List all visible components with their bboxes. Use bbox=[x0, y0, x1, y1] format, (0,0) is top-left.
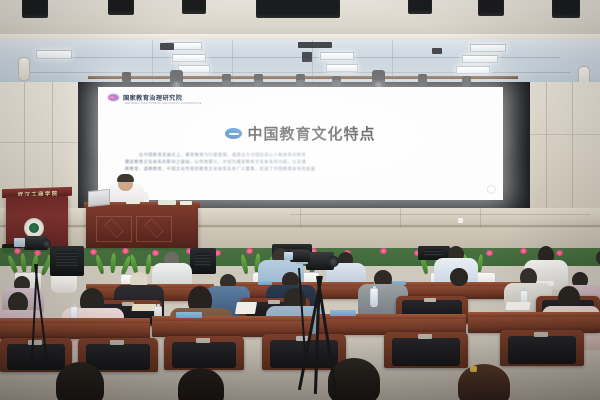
ceiling-speaker bbox=[108, 0, 134, 15]
floor-speaker bbox=[50, 246, 84, 276]
slide-title: 中国教育文化特点 bbox=[247, 123, 375, 144]
stage-spotlight bbox=[372, 70, 385, 88]
ceiling-speaker bbox=[552, 0, 580, 18]
desk-document bbox=[126, 200, 140, 204]
desk-document bbox=[180, 201, 192, 205]
flower bbox=[380, 248, 387, 254]
desk-paper bbox=[235, 302, 257, 314]
flower bbox=[246, 248, 253, 254]
ceiling-light bbox=[470, 44, 506, 52]
desk-nameplate bbox=[158, 200, 176, 205]
desk-item bbox=[131, 304, 156, 311]
stage-spotlight bbox=[170, 70, 183, 88]
lecture-hall-photo: 国家教育治理研究院 NATIONAL INSTITUTE OF EDUCATIO… bbox=[0, 0, 600, 400]
stage-spotlight bbox=[418, 74, 427, 86]
stage-spotlight bbox=[222, 74, 231, 86]
slide-header: 国家教育治理研究院 bbox=[108, 93, 182, 102]
floor-outlet bbox=[458, 218, 463, 223]
base-seam bbox=[400, 208, 401, 228]
flower bbox=[486, 250, 493, 256]
camera-screen bbox=[284, 252, 293, 260]
ceiling-light bbox=[36, 50, 72, 59]
slide-org-subname: NATIONAL INSTITUTE OF EDUCATION GOVERNAN… bbox=[125, 102, 202, 105]
camera-lens-icon bbox=[42, 239, 51, 248]
audience-desk bbox=[0, 323, 150, 339]
slide-body-line: 教教育、道教教育、中国文化传统的教育文化体系及其广义要素，形成了中国教育体系的发… bbox=[125, 165, 477, 172]
institute-logo-icon bbox=[108, 94, 119, 101]
ceiling-vent bbox=[302, 52, 312, 62]
school-crest-icon bbox=[24, 218, 44, 238]
ceiling-light bbox=[326, 64, 358, 72]
flower bbox=[14, 248, 21, 254]
flower bbox=[122, 248, 129, 254]
floor-speaker bbox=[190, 248, 216, 274]
slide-body: 在中国教育发展史上，儒家教育与行政管理、道德法令对国民身心人格修养的教育 儒家教… bbox=[125, 151, 477, 173]
speaker-hair bbox=[117, 174, 134, 182]
camera-lens-icon bbox=[328, 256, 339, 267]
desk-tablet bbox=[176, 312, 202, 318]
plant-leaf bbox=[110, 253, 116, 273]
slide-title-row: 中国教育文化特点 bbox=[98, 123, 503, 144]
chair-tag bbox=[28, 340, 42, 345]
desk-paper bbox=[505, 302, 530, 310]
chair-tag bbox=[418, 334, 432, 339]
ceiling-light bbox=[320, 52, 354, 60]
ceiling-light bbox=[172, 54, 206, 62]
ceiling-speaker bbox=[182, 0, 206, 14]
ceiling-light bbox=[456, 66, 490, 74]
flower bbox=[520, 248, 527, 254]
chair-tag bbox=[424, 298, 436, 302]
base-seam bbox=[290, 214, 590, 215]
projection-screen: 国家教育治理研究院 NATIONAL INSTITUTE OF EDUCATIO… bbox=[98, 87, 503, 200]
slide-body-line: 儒家教育文化体系的影响之基础，以传统要义，才成为儒家教育文化体系的内容，以及通 bbox=[125, 158, 477, 165]
base-seam bbox=[480, 208, 481, 228]
water-bottle bbox=[370, 288, 378, 307]
desk-tablet bbox=[330, 310, 356, 316]
chair-tag bbox=[110, 340, 124, 345]
ceiling-vent bbox=[432, 48, 442, 54]
slide-corner-mark bbox=[487, 185, 496, 194]
flower bbox=[556, 250, 563, 256]
slide-body-line: 在中国教育发展史上，儒家教育与行政管理、道德法令对国民身心人格修养的教育 bbox=[125, 151, 477, 158]
stage-spotlight bbox=[296, 74, 305, 86]
stage-spotlight bbox=[122, 72, 131, 84]
ceiling-light bbox=[462, 55, 498, 63]
blue-minus-ellipse-icon bbox=[225, 128, 242, 139]
camera-screen bbox=[14, 238, 25, 247]
ceiling-speaker bbox=[408, 0, 432, 14]
ceiling-vent-grille bbox=[256, 0, 340, 18]
stage-spotlight bbox=[254, 74, 263, 86]
video-camera bbox=[290, 250, 310, 262]
wall-speaker bbox=[18, 57, 30, 81]
desk-tablet bbox=[258, 281, 272, 285]
chair-tag bbox=[196, 338, 210, 343]
speaker-laptop bbox=[88, 189, 110, 207]
hair-clip bbox=[470, 366, 477, 372]
ceiling-speaker bbox=[22, 0, 48, 18]
base-seam bbox=[300, 208, 301, 228]
flower bbox=[152, 250, 159, 256]
chair-tag bbox=[534, 332, 548, 337]
ceiling-vent bbox=[298, 42, 332, 48]
ceiling-speaker bbox=[478, 0, 504, 16]
slide-org-name: 国家教育治理研究院 bbox=[123, 93, 182, 102]
ceiling-vent bbox=[160, 43, 174, 50]
